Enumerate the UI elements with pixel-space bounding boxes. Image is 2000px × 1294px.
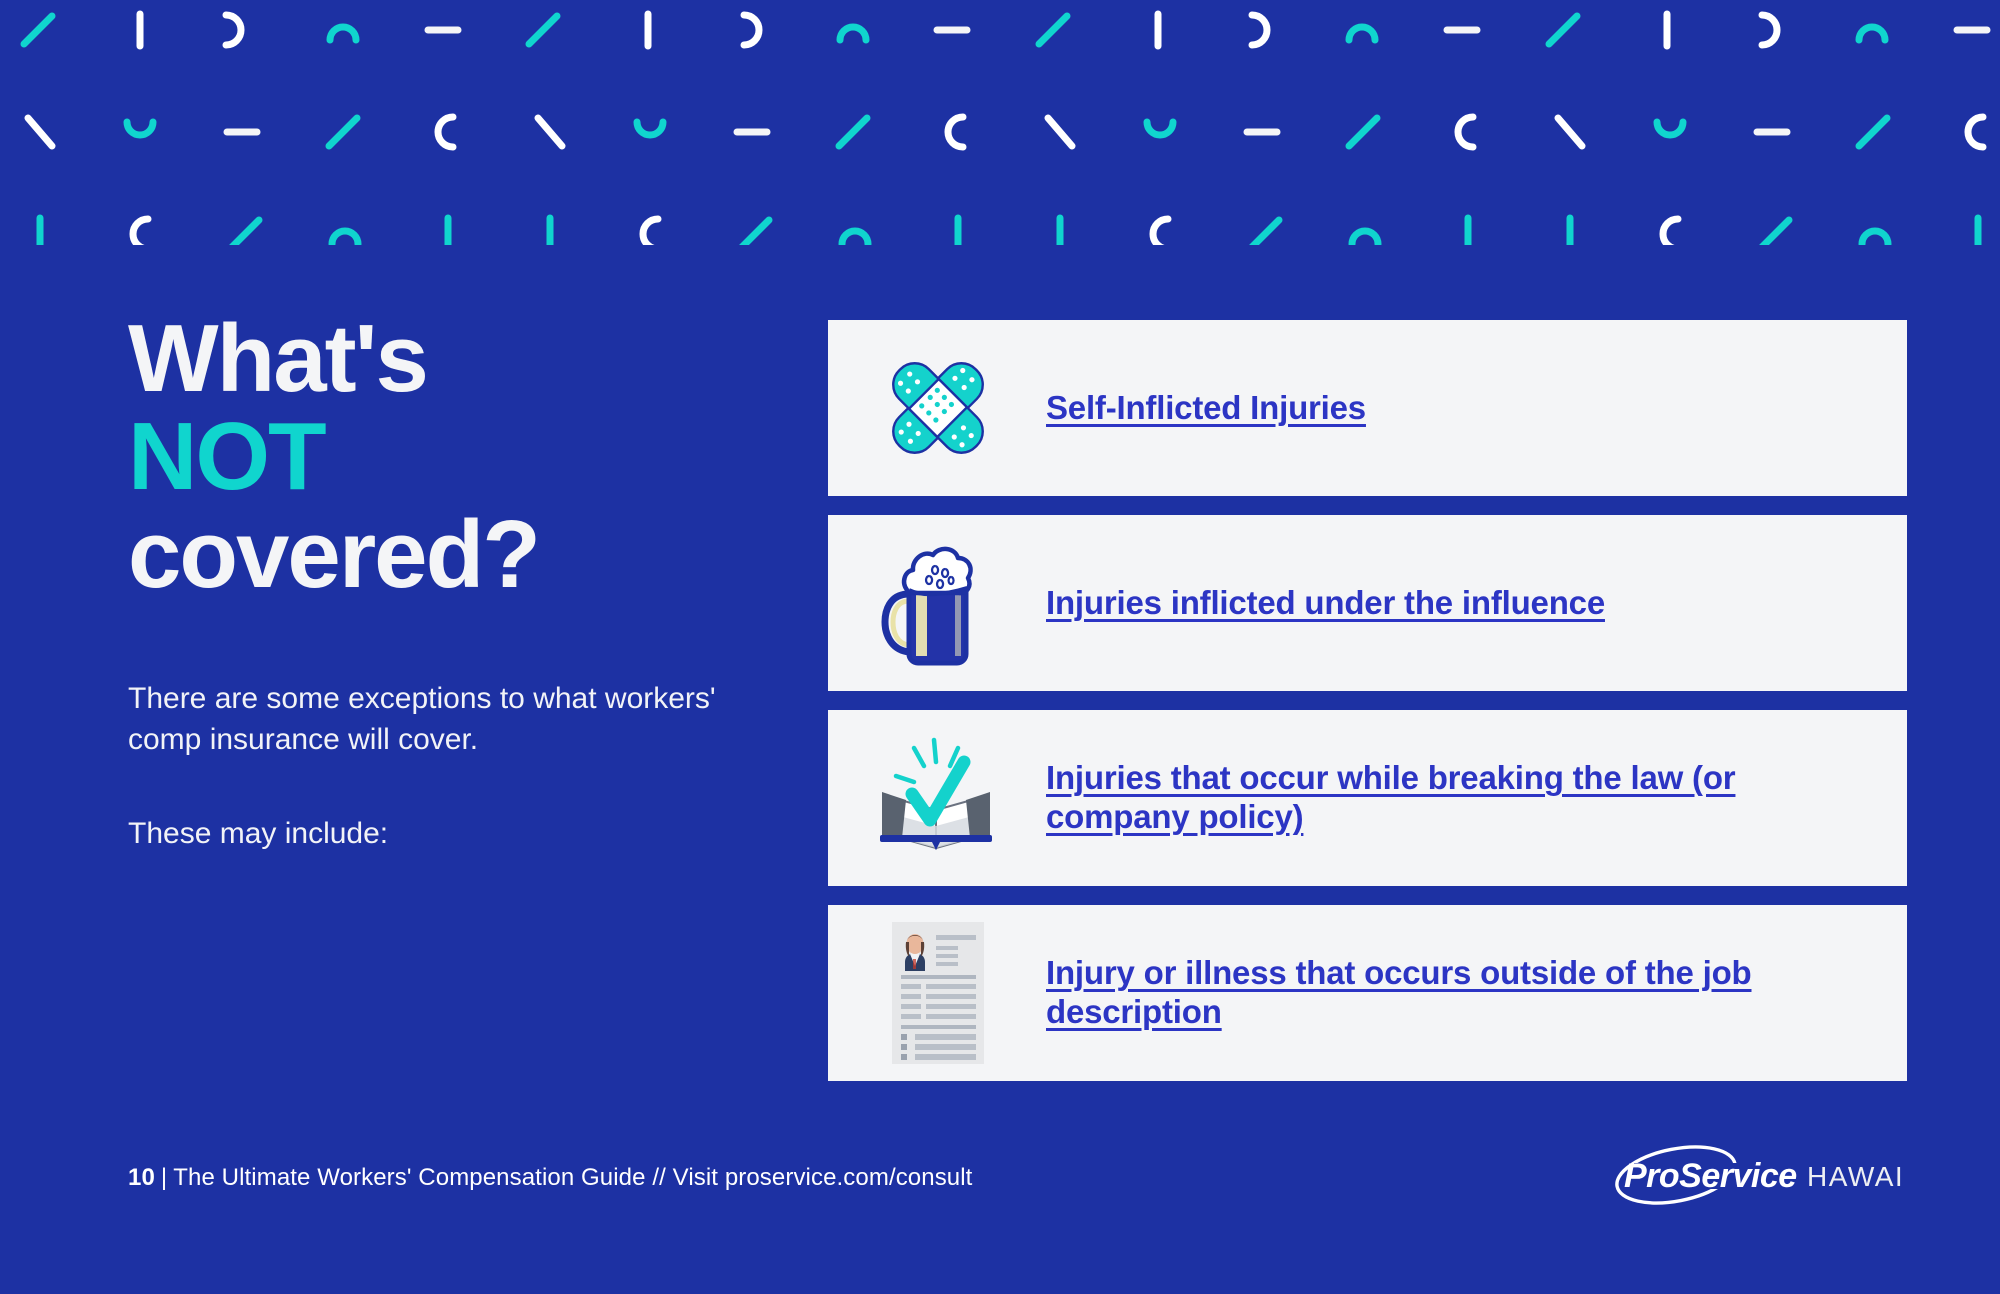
list-item[interactable]: Injuries inflicted under the influence <box>828 515 1907 691</box>
headline-line-2-not: NOT <box>128 408 748 506</box>
list-item[interactable]: Injury or illness that occurs outside of… <box>828 905 1907 1081</box>
list-item-label[interactable]: Self-Inflicted Injuries <box>1046 389 1386 428</box>
intro-paragraph: There are some exceptions to what worker… <box>128 678 748 761</box>
logo-word-pro-service: ProService <box>1624 1157 1797 1195</box>
headline-line-1: What's <box>128 310 748 408</box>
page-title: What's NOT covered? <box>128 310 748 604</box>
footer-caption: 10|The Ultimate Workers' Compensation Gu… <box>128 1164 972 1192</box>
beer-mug-icon <box>872 538 1004 668</box>
headline-line-3: covered? <box>128 506 748 604</box>
list-item-label[interactable]: Injury or illness that occurs outside of… <box>1046 954 1907 1032</box>
footer-separator: | <box>155 1164 173 1191</box>
left-content-column: What's NOT covered? There are some excep… <box>128 310 748 854</box>
abstract-marks-pattern-icon <box>0 0 2000 245</box>
list-item-label[interactable]: Injuries inflicted under the influence <box>1046 584 1625 623</box>
list-item[interactable]: Injuries that occur while breaking the l… <box>828 710 1907 886</box>
bandage-cross-icon <box>872 347 1004 469</box>
page-number: 10 <box>128 1164 155 1191</box>
list-item[interactable]: Self-Inflicted Injuries <box>828 320 1907 496</box>
list-intro-paragraph: These may include: <box>128 813 748 854</box>
open-book-check-icon <box>872 736 1004 860</box>
exclusions-card-list: Self-Inflicted Injuries <box>828 320 1907 1100</box>
resume-document-icon <box>872 918 1004 1068</box>
proservice-hawaii-logo: ProService HAWAII <box>1614 1139 1904 1216</box>
page-footer: 10|The Ultimate Workers' Compensation Gu… <box>128 1139 1904 1216</box>
swoosh-ellipse-icon: ProService HAWAII <box>1614 1139 1904 1211</box>
decorative-pattern-band <box>0 0 2000 245</box>
list-item-label[interactable]: Injuries that occur while breaking the l… <box>1046 759 1907 837</box>
logo-word-hawaii: HAWAII <box>1807 1161 1904 1192</box>
footer-guide-text: The Ultimate Workers' Compensation Guide… <box>173 1164 972 1191</box>
